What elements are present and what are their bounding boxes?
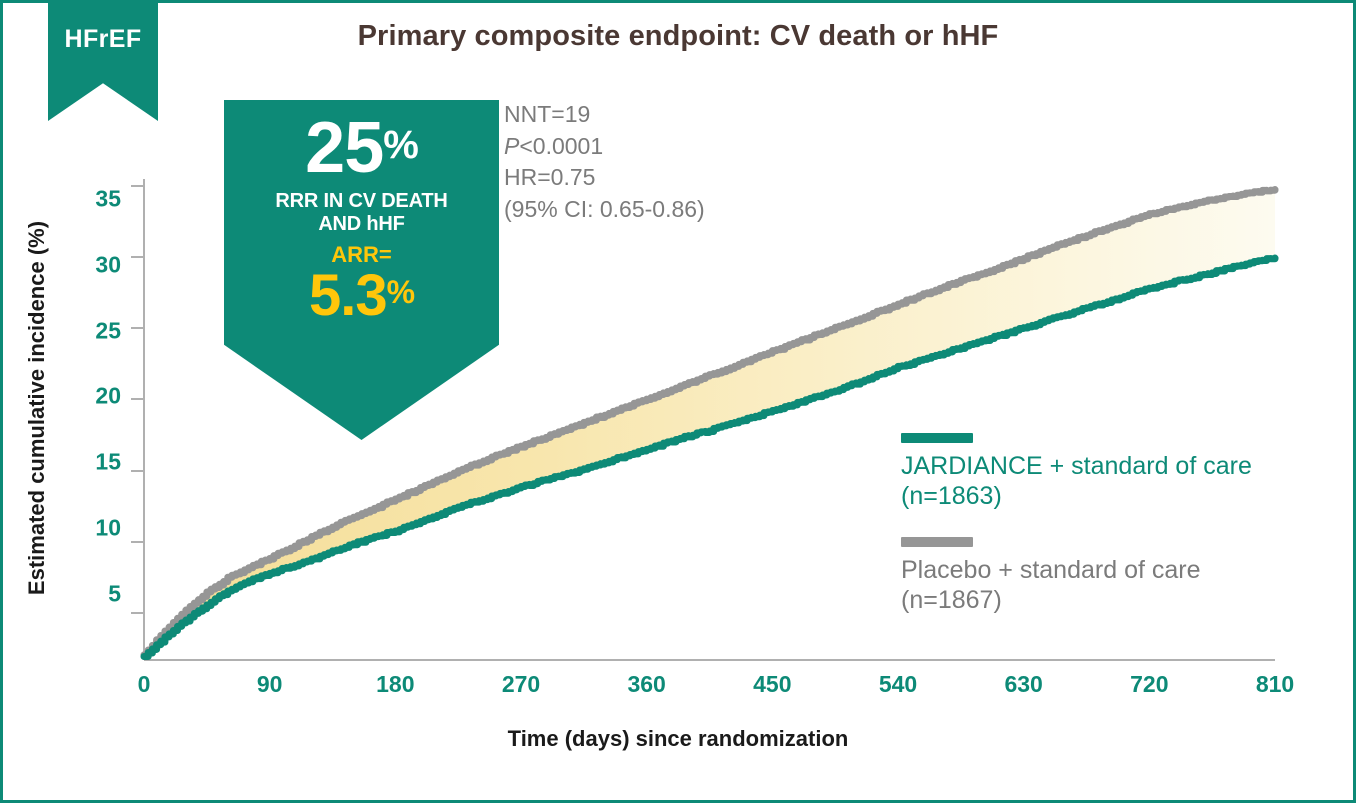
x-tick-270: 270 [481, 671, 561, 698]
callout-arr-number: 5.3 [309, 263, 387, 328]
callout-subtitle-line2: AND hHF [318, 213, 404, 235]
x-tick-90: 90 [230, 671, 310, 698]
callout-percent-sign: % [383, 123, 418, 167]
callout-percent-value: 25 [305, 108, 383, 188]
stat-hazard-ratio: HR=0.75 [504, 162, 705, 194]
stat-confidence-interval: (95% CI: 0.65-0.86) [504, 194, 705, 226]
y-axis-title: Estimated cumulative incidence (%) [24, 208, 50, 608]
y-tick-35: 35 [75, 185, 121, 212]
y-tick-30: 30 [75, 251, 121, 278]
chart-card: HFrEF Primary composite endpoint: CV dea… [0, 0, 1356, 803]
x-tick-450: 450 [732, 671, 812, 698]
x-tick-810: 810 [1235, 671, 1315, 698]
y-tick-15: 15 [75, 449, 121, 476]
stat-pvalue: P<0.0001 [504, 131, 705, 163]
y-tick-20: 20 [75, 383, 121, 410]
y-tick-marks [131, 186, 144, 613]
legend-swatch-jardiance [901, 433, 973, 443]
x-tick-720: 720 [1109, 671, 1189, 698]
x-tick-0: 0 [104, 671, 184, 698]
chart-legend: JARDIANCE + standard of care (n=1863) Pl… [901, 433, 1321, 641]
stat-pvalue-symbol: P [504, 133, 519, 159]
x-axis-title: Time (days) since randomization [3, 726, 1353, 752]
callout-percent: 25% [224, 114, 499, 182]
legend-item-jardiance: JARDIANCE + standard of care (n=1863) [901, 433, 1321, 511]
y-tick-5: 5 [75, 581, 121, 608]
callout-subtitle-line1: RRR IN CV DEATH [275, 190, 447, 212]
x-tick-180: 180 [355, 671, 435, 698]
callout-arr-sign: % [387, 274, 414, 310]
legend-swatch-placebo [901, 537, 973, 547]
y-tick-25: 25 [75, 317, 121, 344]
callout-subtitle: RRR IN CV DEATHAND hHF [224, 190, 499, 235]
legend-item-placebo: Placebo + standard of care (n=1867) [901, 537, 1321, 615]
legend-label-placebo: Placebo + standard of care (n=1867) [901, 556, 1321, 615]
stat-pvalue-rest: <0.0001 [519, 133, 603, 159]
callout-arr-value: 5.3% [224, 267, 499, 325]
x-tick-540: 540 [858, 671, 938, 698]
statistics-block: NNT=19 P<0.0001 HR=0.75 (95% CI: 0.65-0.… [504, 99, 705, 225]
x-tick-360: 360 [607, 671, 687, 698]
y-tick-10: 10 [75, 515, 121, 542]
stat-nnt: NNT=19 [504, 99, 705, 131]
x-tick-630: 630 [984, 671, 1064, 698]
legend-label-jardiance: JARDIANCE + standard of care (n=1863) [901, 452, 1321, 511]
